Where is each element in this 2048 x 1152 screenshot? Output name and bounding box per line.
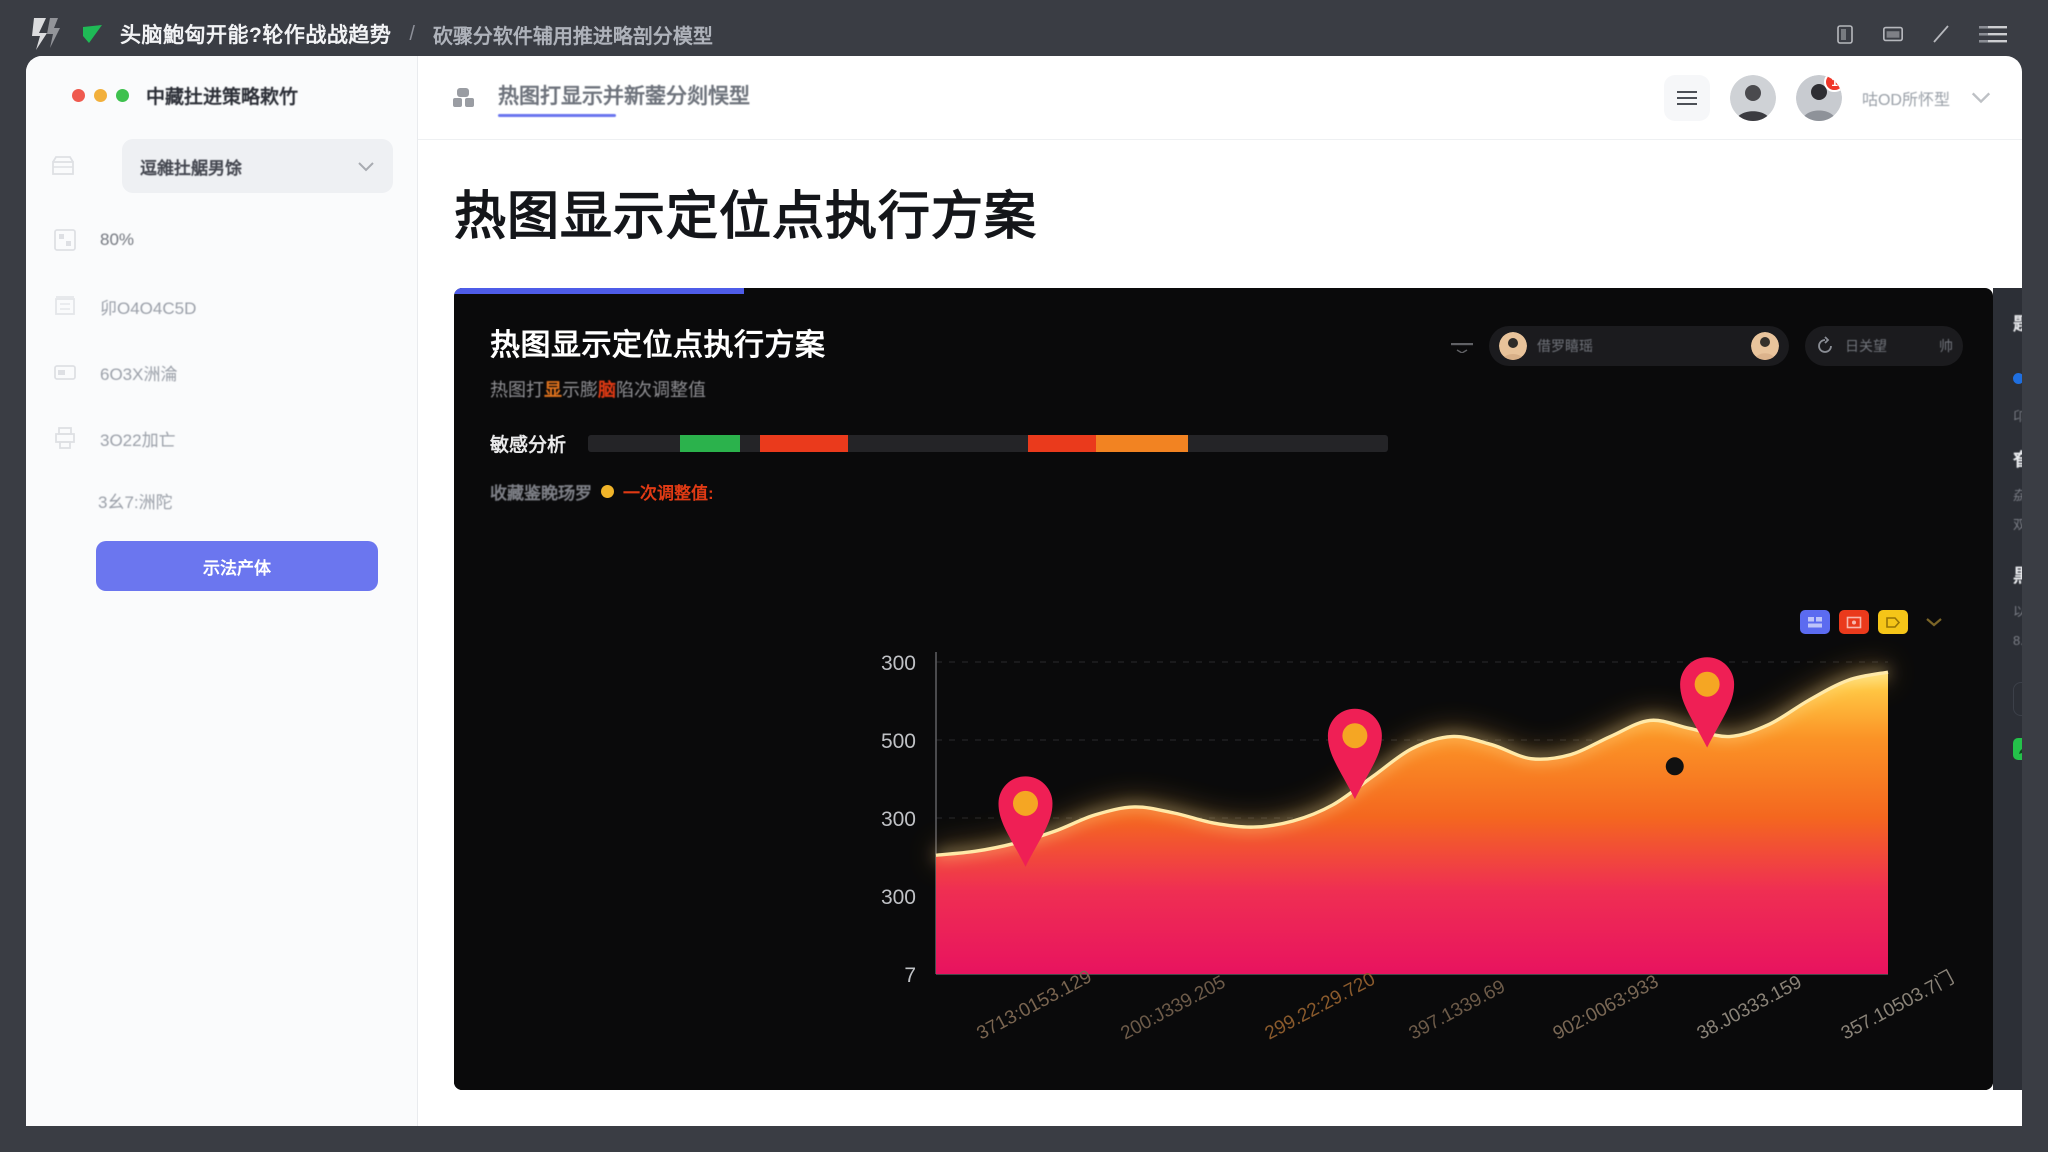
tag-icon xyxy=(1885,616,1901,629)
traffic-light-close[interactable] xyxy=(72,89,85,102)
sidebar-item-1[interactable]: 卯O4O4C5D xyxy=(50,281,393,331)
sidebar-subitem-label: 3幺7:洲陀 xyxy=(98,488,173,513)
avatar[interactable]: 1 xyxy=(1796,75,1842,121)
chevron-down-icon[interactable] xyxy=(1925,616,1943,628)
legend-dot xyxy=(601,485,614,498)
breadcrumb[interactable]: 热图打显示并新蓥分剡悮型 xyxy=(498,80,750,115)
dashboard-card: 热图显示定位点执行方案 热图打显示膨脑陷次调整值 xyxy=(454,288,1993,1090)
dot-1[interactable] xyxy=(1666,757,1684,775)
window-icon[interactable] xyxy=(1882,23,1904,45)
card-header-actions: 借罗瞦瑶 xyxy=(1451,326,1963,366)
card-pill-left-label: 借罗瞦瑶 xyxy=(1537,336,1593,356)
verified-check-icon xyxy=(80,21,106,47)
traffic-light-minimize[interactable] xyxy=(94,89,107,102)
sensitivity-bar-row: 敏感分析 xyxy=(454,402,1993,457)
store-icon xyxy=(50,153,76,179)
window-subtitle: 砍骤分软件辅用推进略剖分模型 xyxy=(433,20,713,49)
copy-icon[interactable] xyxy=(1834,23,1856,45)
traffic-light-maximize[interactable] xyxy=(116,89,129,102)
sidebar-select[interactable]: 逗雓扗艍男馀 xyxy=(122,139,393,193)
drawer-card-title: 黒点柴 xyxy=(2013,562,2022,588)
breadcrumb-label: 热图打显示并新蓥分剡悮型 xyxy=(498,85,750,108)
drawer-card-ghost: に xyxy=(2013,617,2022,634)
card-header: 热图显示定位点执行方案 热图打显示膨脑陷次调整值 xyxy=(454,288,1993,402)
card-icon xyxy=(52,359,78,385)
subtitle-part-2: 示膨 xyxy=(562,380,598,400)
frame-icon xyxy=(1846,616,1862,629)
chart-controls xyxy=(1800,610,1943,634)
delete-button[interactable] xyxy=(1839,610,1869,634)
chevron-down-icon[interactable] xyxy=(1970,91,1992,104)
card-subtitle: 热图打显示膨脑陷次调整值 xyxy=(490,376,1993,402)
sidebar-item-label: 3O22加亡 xyxy=(100,426,176,451)
grid-button[interactable] xyxy=(1800,610,1830,634)
sensitivity-bar-segment xyxy=(1028,435,1096,452)
title-separator: / xyxy=(409,23,415,46)
right-drawer: 题景 名 xyxy=(1993,288,2022,1090)
robot-icon xyxy=(450,85,480,111)
hamburger-icon[interactable] xyxy=(1664,75,1710,121)
sidebar-subitem[interactable]: 3幺7:洲陀 xyxy=(50,479,393,521)
sidebar-item-3[interactable]: 3O22加亡 xyxy=(50,413,393,463)
drawer-card-head: 眘瓶乭 AI xyxy=(2013,446,2022,472)
minus-icon[interactable] xyxy=(1451,339,1473,353)
drawer-footer xyxy=(1993,716,2022,760)
sidebar-titlebar: 中藏扗进策略欶竹 xyxy=(50,82,393,109)
calendar-icon[interactable] xyxy=(2013,682,2022,716)
avatar xyxy=(1751,332,1779,360)
subtitle-part-3: 脑 xyxy=(598,380,616,400)
sidebar-item-label: 80% xyxy=(100,230,134,250)
qr-icon xyxy=(52,227,78,253)
card-pill-right[interactable]: 日关望 帅 xyxy=(1805,326,1963,366)
heatmap-area-chart[interactable]: 300 500 300 300 7 xyxy=(454,640,1993,1090)
status-dot xyxy=(2013,373,2022,384)
legend-text-b: 一次调整值: xyxy=(623,479,714,504)
drawer-card-title: 眘瓶乭 xyxy=(2013,446,2022,472)
chart-area: 300 500 300 300 7 xyxy=(454,640,1993,1090)
os-window: 头脑鮑匈开能?轮作战战趋势 / 砍骤分软件辅用推进略剖分模型 xyxy=(0,0,2048,1152)
subtitle-part-4: 陷次调整值 xyxy=(616,380,706,400)
chevron-down-icon xyxy=(357,161,375,172)
drawer-user-block: 观員正家耤 卬WUGAT工に口H xyxy=(1993,336,2022,428)
page-title: 热图显示定位点执行方案 xyxy=(418,140,2022,275)
avatar xyxy=(1499,332,1527,360)
edit-icon[interactable] xyxy=(2013,738,2022,760)
sensitivity-bar-segment xyxy=(680,435,740,452)
drawer-user-meta: 卬WUGAT工に口H xyxy=(2013,406,2022,425)
sidebar-item-0[interactable]: 80% xyxy=(50,215,393,265)
breadcrumb-underline xyxy=(498,114,616,117)
app-window: 中藏扗进策略欶竹 逗雓扗艍男馀 xyxy=(26,56,2022,1126)
server-icon xyxy=(52,293,78,319)
main-content: 热图打显示并新蓥分剡悮型 xyxy=(418,56,2022,1126)
main-toolbar-right: 1 咕OD所怀型 xyxy=(1664,75,1992,121)
sensitivity-bar-segment xyxy=(1096,435,1188,452)
subtitle-part-1: 显 xyxy=(544,380,562,400)
drawer-user-name-row: 观員正家耤 xyxy=(2013,366,2022,390)
drawer-card-ghost: 汇 xyxy=(2013,501,2022,518)
drawer-title: 题景 xyxy=(2013,310,2022,336)
drawer-card-head: 黒点柴 AI xyxy=(2013,562,2022,588)
sidebar-title: 中藏扗进策略欶竹 xyxy=(146,82,298,109)
card-pill-right-suffix: 帅 xyxy=(1939,336,1953,356)
sidebar-item-2[interactable]: 6O3X洲淪 xyxy=(50,347,393,397)
printer-icon xyxy=(52,425,78,451)
app-logo-icon xyxy=(26,14,66,54)
notification-badge: 1 xyxy=(1824,75,1842,92)
y-tick-3: 300 xyxy=(881,886,916,909)
drawer-card-1: 黒点柴 AI 以小/00は 8ル幺口り1のrtl 下HOD9 に xyxy=(1993,518,2022,634)
main-toolbar: 热图打显示并新蓥分剡悮型 xyxy=(418,56,2022,140)
card-pill-right-label: 日关望 xyxy=(1845,336,1887,356)
y-tick-0: 300 xyxy=(881,652,916,675)
window-actions xyxy=(1834,23,2022,45)
sensitivity-bar-segment xyxy=(760,435,848,452)
highlight-button[interactable] xyxy=(1878,610,1908,634)
drawer-header: 题景 名 xyxy=(1993,288,2022,336)
window-title: 头脑鮑匈开能?轮作战战趋势 xyxy=(120,19,391,49)
legend-text-a: 收藏鉴睌玚罗 xyxy=(490,479,592,504)
sidebar: 中藏扗进策略欶竹 逗雓扗艍男馀 xyxy=(26,56,418,1126)
sidebar-cta-button[interactable]: 示法产体 xyxy=(96,541,378,591)
subtitle-part-0: 热图打 xyxy=(490,380,544,400)
user-name: 咕OD所怀型 xyxy=(1862,86,1950,110)
menu-icon[interactable] xyxy=(1978,23,2008,45)
sensitivity-bar-label: 敏感分析 xyxy=(490,430,566,457)
refresh-icon xyxy=(1815,336,1835,356)
y-tick-4: 7 xyxy=(904,964,916,987)
drawer-card-0: 眘瓶乭 AI 劦欣小/免 双T阳じ1ご1ぱ鹁 下Mとら 汇 xyxy=(1993,428,2022,518)
sensitivity-bar-track[interactable] xyxy=(588,435,1388,452)
card-pill-left[interactable]: 借罗瞦瑶 xyxy=(1489,326,1789,366)
avatar[interactable] xyxy=(1730,75,1776,121)
pen-icon[interactable] xyxy=(1930,23,1952,45)
sidebar-select-value: 逗雓扗艍男馀 xyxy=(140,154,242,179)
sidebar-item-label: 卯O4O4C5D xyxy=(100,294,196,319)
y-tick-2: 300 xyxy=(881,808,916,831)
sidebar-item-label: 6O3X洲淪 xyxy=(100,360,177,385)
grid-icon xyxy=(1807,616,1823,629)
y-tick-1: 500 xyxy=(881,730,916,753)
legend-row: 收藏鉴睌玚罗 一次调整值: xyxy=(454,457,1993,504)
